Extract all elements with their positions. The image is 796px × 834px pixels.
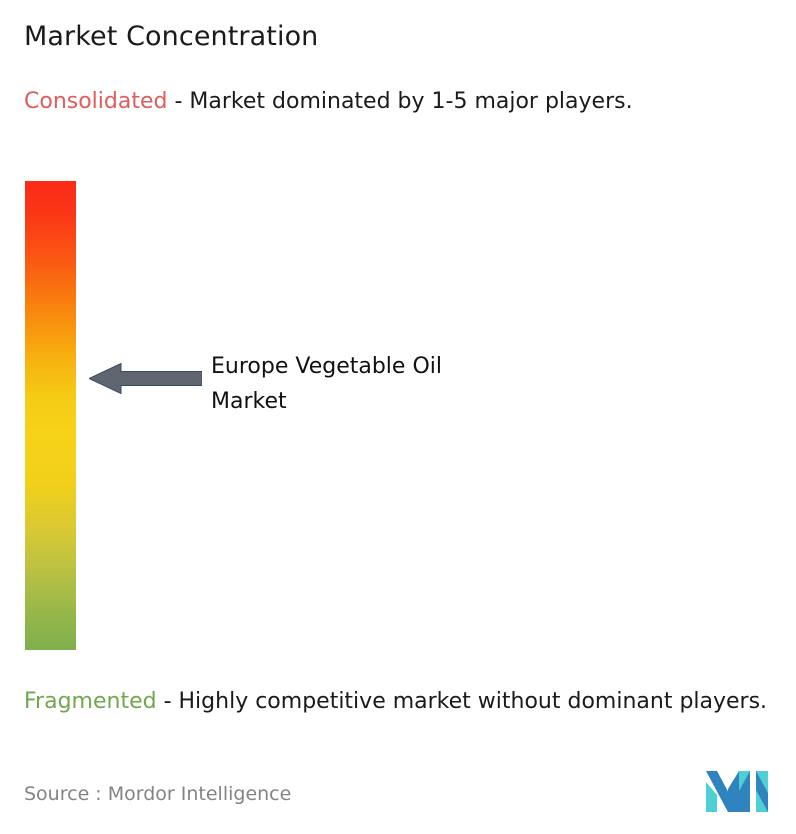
mordor-intelligence-logo-icon <box>706 771 768 812</box>
keyword-fragmented: Fragmented <box>24 689 157 714</box>
page-title: Market Concentration <box>24 19 318 55</box>
annotation-label-line2: Market <box>211 384 571 419</box>
source-attribution: Source : Mordor Intelligence <box>24 781 291 807</box>
market-concentration-gradient-bar <box>25 181 76 650</box>
caption-consolidated: Consolidated - Market dominated by 1-5 m… <box>24 86 772 118</box>
market-position-arrow-icon <box>89 363 202 394</box>
caption-fragmented: Fragmented - Highly competitive market w… <box>24 686 784 718</box>
annotation-label-line1: Europe Vegetable Oil <box>211 349 571 384</box>
caption-consolidated-description: - Market dominated by 1-5 major players. <box>167 89 632 114</box>
annotation-label-europe-vegetable-oil-market: Europe Vegetable Oil Market <box>211 349 571 419</box>
keyword-consolidated: Consolidated <box>24 89 167 114</box>
caption-fragmented-description: - Highly competitive market without domi… <box>157 689 767 714</box>
